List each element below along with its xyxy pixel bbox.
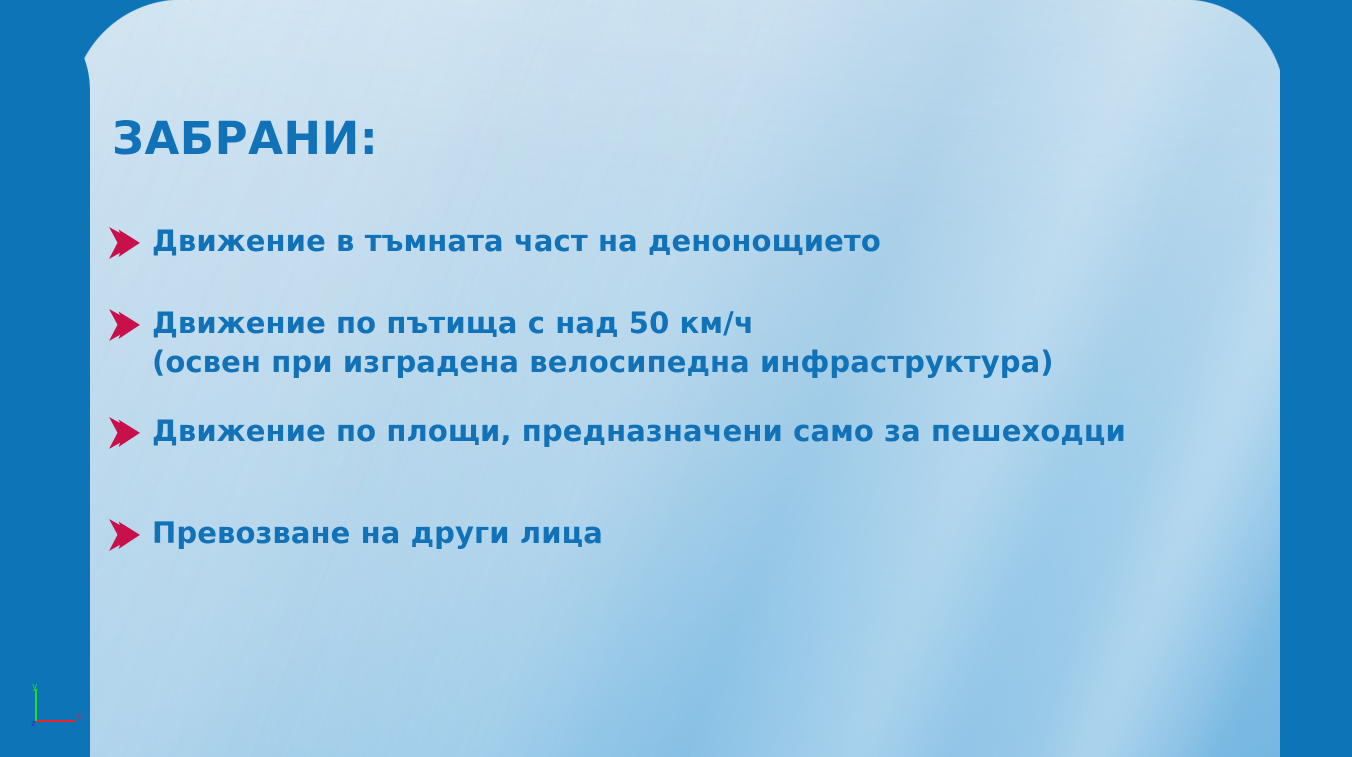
- chevron-arrow-bullet-icon: [106, 306, 148, 344]
- axis-z-label: z: [31, 719, 36, 729]
- axis-x-label: x: [76, 712, 82, 722]
- list-item-label: Превозване на други лица: [152, 514, 603, 553]
- list-item: Превозване на други лица: [106, 514, 1306, 554]
- list-item: Движение по площи, предназначени само за…: [106, 412, 1306, 452]
- list-item-label: Движение по пътища с над 50 км/ч (освен …: [152, 304, 1054, 382]
- list-item-label: Движение в тъмната част на денонощието: [152, 222, 881, 261]
- spacer: [106, 262, 1306, 304]
- slide-content: ЗАБРАНИ: Движение в тъмната част на дено…: [0, 0, 1352, 757]
- list-item: Движение по пътища с над 50 км/ч (освен …: [106, 304, 1306, 382]
- spacer: [106, 452, 1306, 514]
- spacer: [106, 382, 1306, 412]
- list-item-label: Движение по площи, предназначени само за…: [152, 412, 1126, 451]
- page-title: ЗАБРАНИ:: [112, 116, 378, 161]
- axis-y-label: y: [32, 682, 38, 692]
- chevron-arrow-bullet-icon: [106, 414, 148, 452]
- axis-gizmo: x y z: [28, 679, 84, 731]
- presentation-slide: ЗАБРАНИ: Движение в тъмната част на дено…: [0, 0, 1352, 757]
- list-item: Движение в тъмната част на денонощието: [106, 222, 1306, 262]
- bullet-list: Движение в тъмната част на денонощието Д…: [106, 222, 1306, 554]
- chevron-arrow-bullet-icon: [106, 516, 148, 554]
- chevron-arrow-bullet-icon: [106, 224, 148, 262]
